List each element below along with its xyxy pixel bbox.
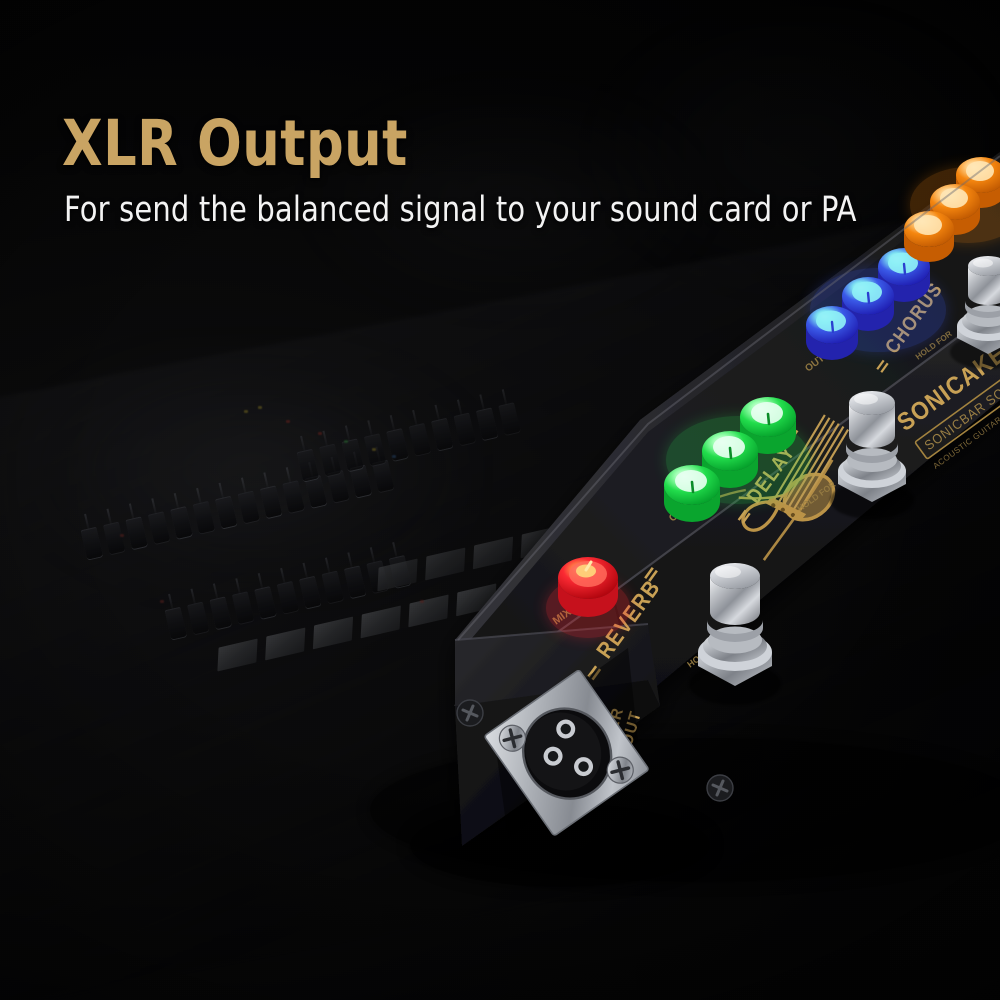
product-marketing-banner: XLR Output For send the balanced signal …	[0, 0, 1000, 1000]
knob-delay-1[interactable]	[664, 465, 720, 522]
knob-reverb-mix[interactable]	[558, 557, 618, 617]
knob-chorus-1[interactable]	[806, 306, 858, 360]
page-title: XLR Output	[62, 112, 865, 175]
page-subtitle: For send the balanced signal to your sou…	[64, 191, 857, 230]
headline-block: XLR Output For send the balanced signal …	[62, 112, 926, 230]
